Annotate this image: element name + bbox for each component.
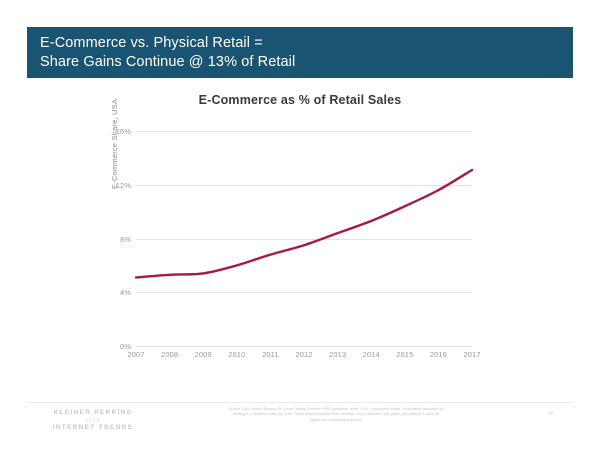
x-axis-tick-label: 2014 bbox=[363, 350, 380, 359]
chart-plot-area: 0%4%8%12%16% bbox=[136, 131, 472, 346]
x-axis-tick-label: 2012 bbox=[295, 350, 312, 359]
grid-line bbox=[136, 346, 472, 347]
kleiner-perkins-logo: KLEINER PERKINS 2018 INTERNET TRENDS bbox=[33, 409, 153, 432]
footer-divider bbox=[27, 402, 573, 403]
x-axis-tick-label: 2017 bbox=[463, 350, 480, 359]
y-axis-tick-label: 0% bbox=[91, 342, 131, 351]
x-axis-tick-label: 2013 bbox=[329, 350, 346, 359]
y-axis-tick-label: 12% bbox=[91, 181, 131, 190]
x-axis-tick-labels: 2007200820092010201120122013201420152016… bbox=[136, 350, 472, 362]
header-banner: E-Commerce vs. Physical Retail = Share G… bbox=[27, 27, 573, 78]
slide-canvas: E-Commerce vs. Physical Retail = Share G… bbox=[0, 0, 600, 463]
brand-year: 2018 bbox=[33, 417, 153, 425]
x-axis-tick-label: 2009 bbox=[195, 350, 212, 359]
chart-title: E-Commerce as % of Retail Sales bbox=[0, 93, 600, 107]
source-note: Source: USA Census Bureau, St. Louis Fed… bbox=[228, 407, 444, 423]
x-axis-tick-label: 2015 bbox=[396, 350, 413, 359]
y-axis-tick-label: 8% bbox=[91, 235, 131, 244]
header-title-line-2: Share Gains Continue @ 13% of Retail bbox=[40, 53, 573, 72]
y-axis-title: E-Commerce Share, USA bbox=[110, 99, 119, 189]
x-axis-tick-label: 2007 bbox=[127, 350, 144, 359]
page-number: 46 bbox=[548, 411, 554, 417]
header-title-line-1: E-Commerce vs. Physical Retail = bbox=[40, 34, 573, 53]
x-axis-tick-label: 2016 bbox=[430, 350, 447, 359]
y-axis-tick-label: 16% bbox=[91, 127, 131, 136]
y-axis-tick-label: 4% bbox=[91, 288, 131, 297]
x-axis-tick-label: 2008 bbox=[161, 350, 178, 359]
brand-name: KLEINER PERKINS bbox=[33, 409, 153, 417]
x-axis-tick-label: 2010 bbox=[228, 350, 245, 359]
line-series-svg bbox=[136, 131, 472, 346]
ecommerce-share-line bbox=[136, 170, 472, 278]
brand-report-name: INTERNET TRENDS bbox=[33, 424, 153, 432]
x-axis-tick-label: 2011 bbox=[262, 350, 279, 359]
